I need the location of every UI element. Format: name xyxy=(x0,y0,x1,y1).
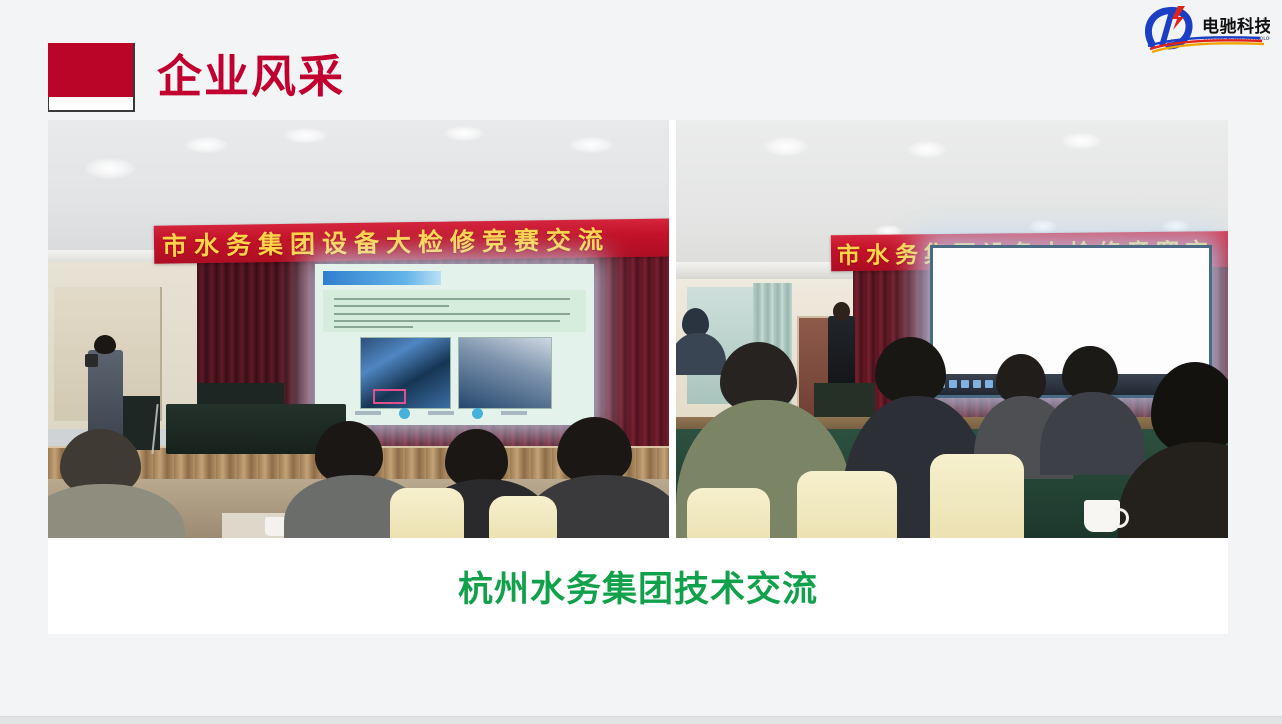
bottom-bar xyxy=(0,716,1282,724)
page-title: 企业风采 xyxy=(157,55,345,100)
ceiling-light xyxy=(1062,133,1101,150)
event-banner-text: 市水务集团设备大检修竞赛交流 xyxy=(161,221,609,263)
slide-page: 电驰科技 ELECTRICAL DBI TECHNOLOGY ™ 企业风采 xyxy=(0,0,1282,724)
projection-screen xyxy=(315,264,594,425)
title-badge-decoration xyxy=(48,43,135,112)
photo-row: 市水务集团设备大检修竞赛交流 xyxy=(48,120,1228,538)
presenter-head xyxy=(94,335,116,354)
svg-text:™: ™ xyxy=(1262,18,1267,24)
svg-text:电驰科技: 电驰科技 xyxy=(1202,16,1270,37)
chair-back xyxy=(930,454,1024,538)
badge-white-strip xyxy=(48,97,133,110)
ceiling-light xyxy=(445,126,482,141)
ceiling-light xyxy=(85,158,135,179)
gallery-photo-left[interactable]: 市水务集团设备大检修竞赛交流 xyxy=(48,120,669,538)
audience-head xyxy=(875,337,947,404)
photo-caption-text: 杭州水务集团技术交流 xyxy=(458,561,818,612)
event-banner: 市水务集团设备大检修竞赛交流 xyxy=(153,219,669,264)
ceiling-light xyxy=(1029,220,1057,233)
microphone xyxy=(85,354,97,367)
photo-caption: 杭州水务集团技术交流 xyxy=(48,538,1228,634)
chair-back xyxy=(797,471,896,538)
slide-highlight-box xyxy=(373,389,406,404)
slide-header-bar xyxy=(323,271,440,285)
ceiling-light xyxy=(764,137,808,156)
tea-cup xyxy=(1084,500,1120,531)
presenter-body xyxy=(828,316,856,387)
slide-thumbnail-right xyxy=(458,337,552,410)
section-title-row: 企业风采 xyxy=(48,40,345,114)
podium xyxy=(814,383,875,421)
dianchi-technology-logo: 电驰科技 ELECTRICAL DBI TECHNOLOGY ™ xyxy=(1142,2,1270,54)
slide-thumbnail-left xyxy=(360,337,451,410)
ceiling-light xyxy=(284,128,327,143)
chair-back xyxy=(489,496,557,538)
chair-back xyxy=(687,488,770,538)
gallery-card: 市水务集团设备大检修竞赛交流 xyxy=(48,120,1228,634)
slide-footer-logos xyxy=(326,404,583,422)
ceiling-light xyxy=(908,141,947,158)
gallery-photo-right[interactable]: 市水务集团设备大检修竞赛交 xyxy=(676,120,1228,538)
presenter-head xyxy=(833,302,850,321)
slide-text-block xyxy=(323,290,586,332)
chair-back xyxy=(390,488,465,538)
